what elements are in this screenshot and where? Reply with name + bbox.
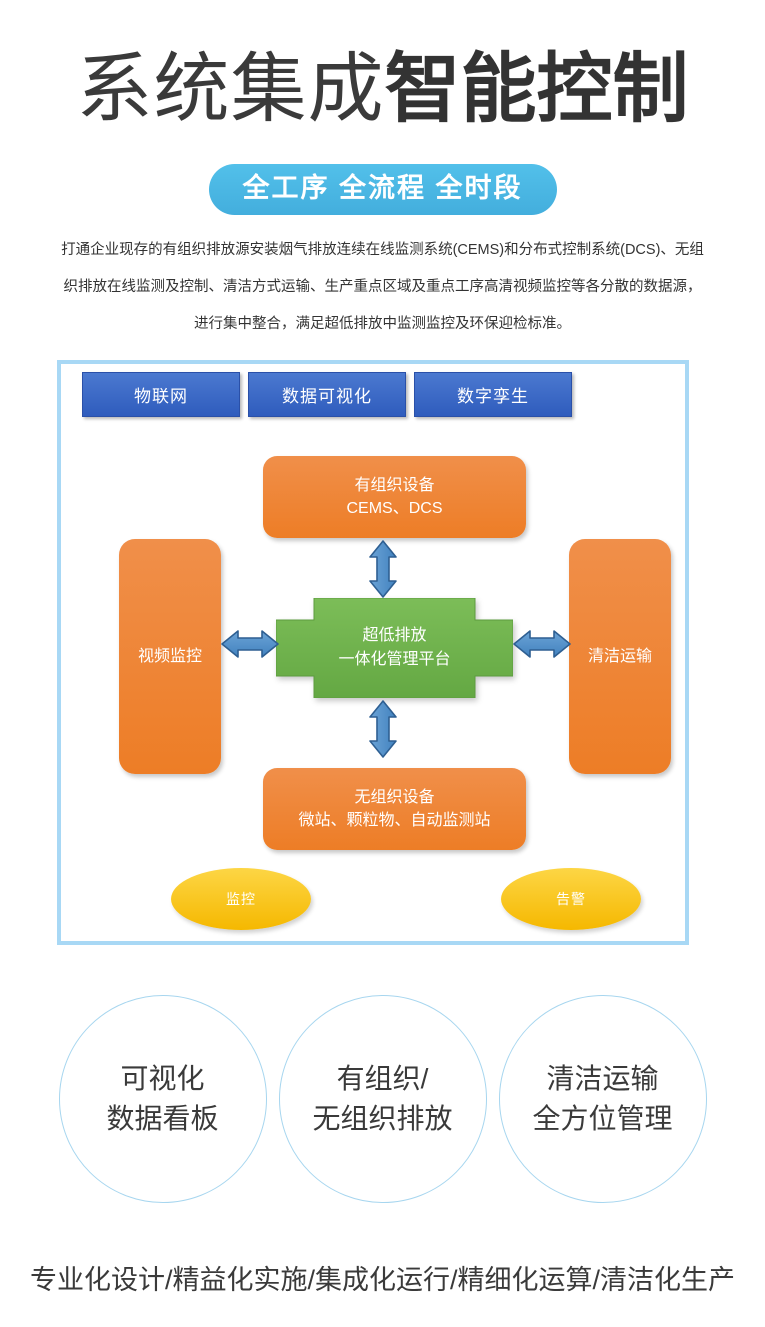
node-organized-equipment-line2: CEMS、DCS [346,497,442,520]
node-clean-transport-label: 清洁运输 [588,645,652,668]
feature-circle-emissions-line1: 有组织/ [337,1059,429,1099]
ellipse-alarm[interactable]: 告警 [501,868,641,930]
blue-box-digital-twin[interactable]: 数字孪生 [414,372,572,417]
arrow-right-double-icon [513,629,571,664]
subtitle-badge: 全工序 全流程 全时段 [208,164,556,215]
feature-circle-visualization-line1: 可视化 [120,1059,204,1099]
node-core-platform-shape[interactable] [276,598,513,698]
page-title: 系统集成智能控制 [0,52,765,128]
blue-box-iot[interactable]: 物联网 [82,372,240,417]
feature-circle-transport[interactable]: 清洁运输 全方位管理 [499,995,707,1203]
node-video-monitoring-label: 视频监控 [138,645,202,668]
top-blue-box-row: 物联网 数据可视化 数字孪生 [82,372,572,417]
feature-circle-row: 可视化 数据看板 有组织/ 无组织排放 清洁运输 全方位管理 [0,995,765,1203]
feature-circle-emissions[interactable]: 有组织/ 无组织排放 [279,995,487,1203]
node-organized-equipment[interactable]: 有组织设备 CEMS、DCS [263,456,526,538]
page-title-bold: 智能控制 [385,47,689,132]
footer-tagline: 专业化设计/精益化实施/集成化运行/精细化运算/清洁化生产 [0,1258,765,1297]
feature-circle-emissions-line2: 无组织排放 [312,1099,452,1139]
node-clean-transport[interactable]: 清洁运输 [569,539,671,774]
page-title-light: 系统集成 [77,47,385,132]
arrow-left-double-icon [221,629,279,664]
intro-paragraph: 打通企业现存的有组织排放源安装烟气排放连续在线监测系统(CEMS)和分布式控制系… [60,232,705,343]
feature-circle-visualization[interactable]: 可视化 数据看板 [59,995,267,1203]
node-video-monitoring[interactable]: 视频监控 [119,539,221,774]
feature-circle-visualization-line2: 数据看板 [106,1099,218,1139]
feature-circle-transport-line1: 清洁运输 [546,1059,658,1099]
arrow-down-double-icon [368,700,398,763]
arrow-up-double-icon [368,540,398,603]
architecture-diagram: 物联网 数据可视化 数字孪生 有组织设备 CEMS、DCS 无组织设备 微站、颗… [57,360,689,945]
feature-circle-transport-line2: 全方位管理 [532,1099,672,1139]
node-unorganized-equipment[interactable]: 无组织设备 微站、颗粒物、自动监测站 [263,768,526,850]
ellipse-monitoring[interactable]: 监控 [171,868,311,930]
blue-box-data-visualization[interactable]: 数据可视化 [248,372,406,417]
node-organized-equipment-line1: 有组织设备 [354,474,434,497]
node-unorganized-equipment-line2: 微站、颗粒物、自动监测站 [298,809,490,832]
node-unorganized-equipment-line1: 无组织设备 [354,786,434,809]
